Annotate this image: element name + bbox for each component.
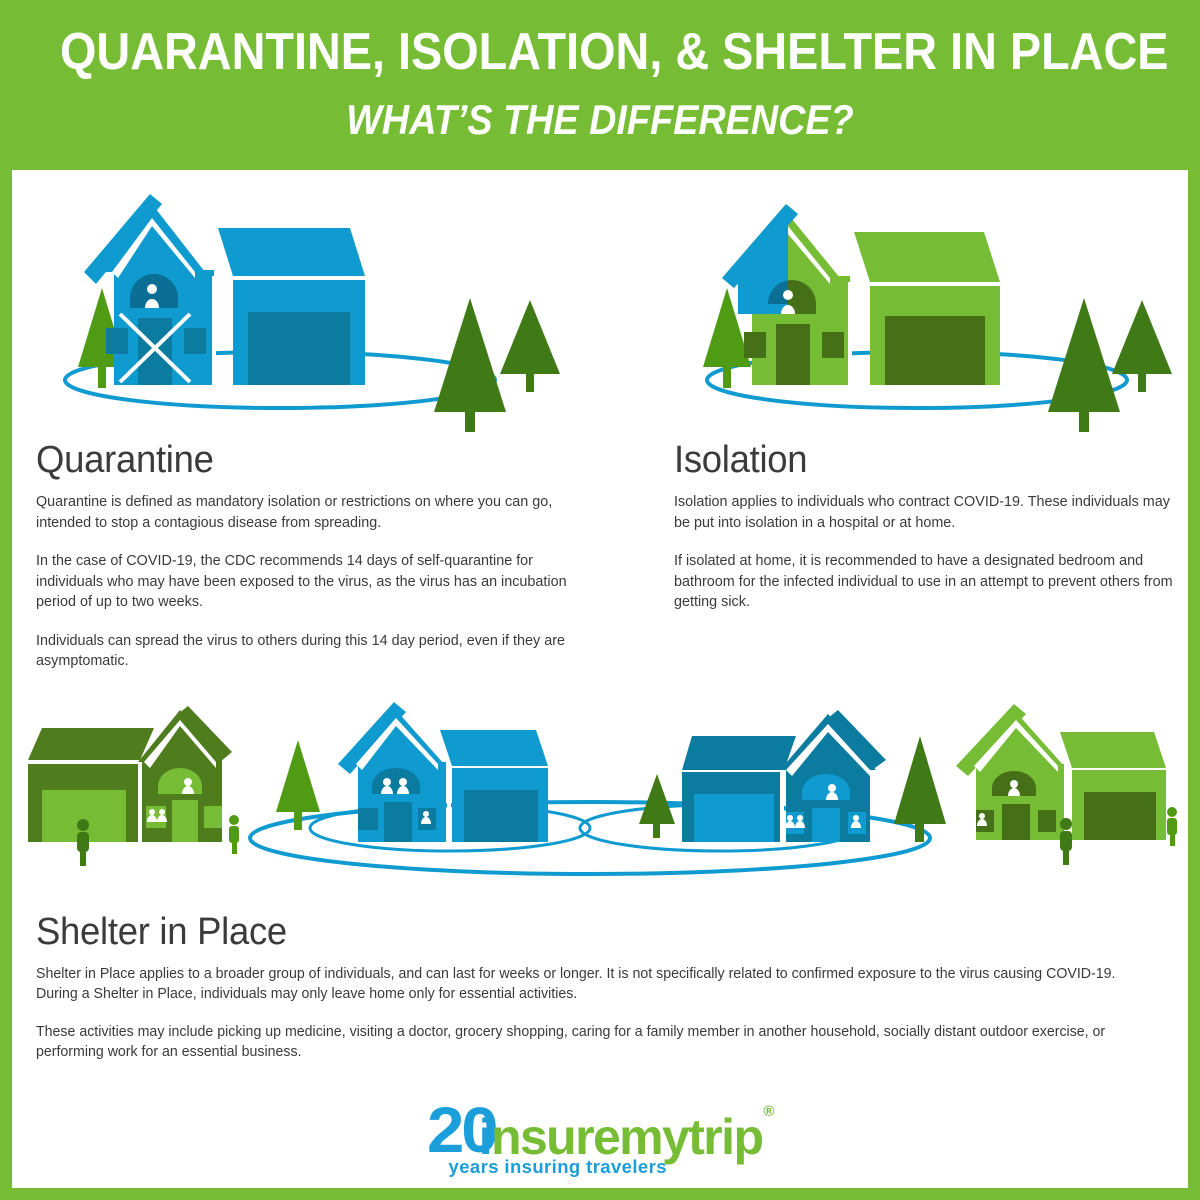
- quarantine-illustration: [40, 192, 560, 432]
- pine-tree-icon: [500, 300, 560, 392]
- quarantine-paragraph-3: Individuals can spread the virus to othe…: [36, 631, 590, 672]
- isolation-illustration: [672, 192, 1172, 432]
- quarantine-heading: Quarantine: [36, 438, 576, 482]
- shelter-in-place-heading: Shelter in Place: [36, 910, 1130, 954]
- isolation-paragraph-2: If isolated at home, it is recommended t…: [674, 551, 1186, 613]
- brand-logo[interactable]: 20insuremytrip® years insuring travelers: [12, 1098, 1188, 1178]
- pine-tree-icon: [1112, 300, 1172, 392]
- logo-wordmark-rest: nsuremytrip: [491, 1109, 762, 1165]
- quarantine-paragraph-2: In the case of COVID-19, the CDC recomme…: [36, 551, 590, 613]
- house-bright-blue: [338, 702, 548, 842]
- shelter-in-place-text-block: Shelter in Place Shelter in Place applie…: [36, 910, 1176, 1062]
- person-figure: [77, 819, 89, 866]
- shelter-paragraph-2: These activities may include picking up …: [36, 1022, 1159, 1062]
- isolation-text-column: Isolation Isolation applies to individua…: [674, 438, 1194, 613]
- pine-tree-icon: [894, 736, 946, 842]
- logo-wordmark: insuremytrip: [479, 1112, 763, 1162]
- quarantine-paragraph-1: Quarantine is defined as mandatory isola…: [36, 492, 590, 533]
- isolation-paragraph-1: Isolation applies to individuals who con…: [674, 492, 1186, 533]
- shelter-in-place-illustration: [20, 700, 1180, 900]
- shelter-paragraph-1: Shelter in Place applies to a broader gr…: [36, 964, 1159, 1004]
- logo-wordmark-prefix: i: [479, 1109, 491, 1165]
- house-dark-green: [28, 706, 232, 842]
- poster-header: QUARANTINE, ISOLATION, & SHELTER IN PLAC…: [0, 0, 1200, 170]
- isolation-heading: Isolation: [674, 438, 1173, 482]
- page-title: QUARANTINE, ISOLATION, & SHELTER IN PLAC…: [60, 24, 1140, 80]
- house-light-green: [956, 704, 1166, 840]
- registered-trademark-icon: ®: [763, 1104, 774, 1119]
- page-subtitle: WHAT’S THE DIFFERENCE?: [60, 97, 1140, 143]
- pine-tree-icon: [1048, 298, 1120, 432]
- content-canvas: Quarantine Quarantine is defined as mand…: [12, 170, 1188, 1188]
- quarantine-text-column: Quarantine Quarantine is defined as mand…: [36, 438, 598, 672]
- infographic-poster: QUARANTINE, ISOLATION, & SHELTER IN PLAC…: [0, 0, 1200, 1200]
- person-figure: [1060, 818, 1072, 865]
- person-figure: [229, 815, 239, 854]
- house-deep-blue: [682, 710, 886, 842]
- person-figure: [1167, 807, 1177, 846]
- pine-tree-icon: [434, 298, 506, 432]
